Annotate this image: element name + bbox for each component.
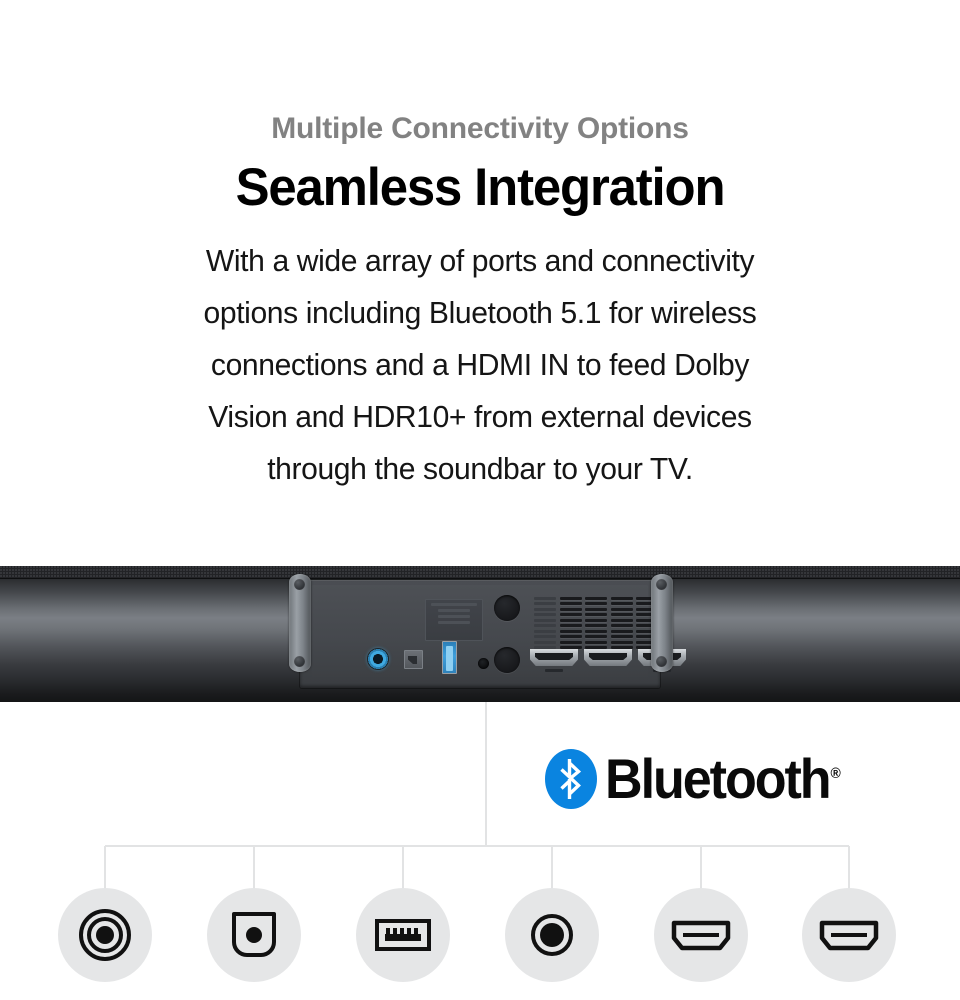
aux-port-photo [478, 658, 489, 669]
port-panel-inset [312, 585, 648, 677]
port-icon-optical[interactable] [207, 888, 301, 982]
optical-icon [229, 910, 279, 960]
hero-text-block: Multiple Connectivity Options Seamless I… [0, 0, 960, 495]
description-line: connections and a HDMI IN to feed Dolby [14, 339, 945, 391]
optical-port-photo [404, 650, 423, 669]
bluetooth-wordmark-text: Bluetooth [605, 747, 830, 810]
dc-power-port-photo [367, 648, 389, 670]
usb-icon [374, 915, 432, 955]
bluetooth-wordmark: Bluetooth® [605, 751, 841, 807]
registered-trademark-mark: ® [831, 765, 841, 782]
screw-icon [294, 656, 305, 667]
hdmi-port-photo [584, 649, 632, 666]
hdmi-port-tab [545, 669, 563, 672]
port-icon-usb[interactable] [356, 888, 450, 982]
hdmi-icon [671, 918, 731, 952]
description-line: With a wide array of ports and connectiv… [14, 235, 945, 287]
soundbar-product-image [0, 566, 960, 702]
screw-icon [656, 656, 667, 667]
screw-icon [656, 579, 667, 590]
port-icon-hdmi[interactable] [802, 888, 896, 982]
hdmi-icon [819, 918, 879, 952]
chassis-edge-line [0, 578, 960, 579]
screw-icon [294, 579, 305, 590]
hero-description: With a wide array of ports and connectiv… [14, 235, 945, 495]
port-icon-dc-power[interactable] [58, 888, 152, 982]
aux-icon [530, 913, 574, 957]
usb-port-photo [442, 641, 457, 674]
description-line: Vision and HDR10+ from external devices [14, 391, 945, 443]
ventilation-slots [534, 597, 658, 649]
page-title: Seamless Integration [19, 157, 941, 220]
description-line: through the soundbar to your TV. [14, 443, 945, 495]
port-icon-row [0, 888, 960, 984]
hdmi-port-photo [530, 649, 578, 666]
panel-bracket-left [289, 574, 311, 672]
eyebrow-heading: Multiple Connectivity Options [0, 112, 960, 147]
panel-bracket-right [651, 574, 673, 672]
warning-label-sticker [425, 599, 483, 641]
bluetooth-icon [545, 749, 597, 809]
port-icon-aux[interactable] [505, 888, 599, 982]
bluetooth-logo: Bluetooth® [545, 746, 859, 812]
description-line: options including Bluetooth 5.1 for wire… [14, 287, 945, 339]
rear-port-panel [300, 580, 660, 688]
dc-power-icon [77, 907, 133, 963]
mounting-hole [494, 595, 520, 621]
port-icon-hdmi[interactable] [654, 888, 748, 982]
mounting-hole [494, 647, 520, 673]
